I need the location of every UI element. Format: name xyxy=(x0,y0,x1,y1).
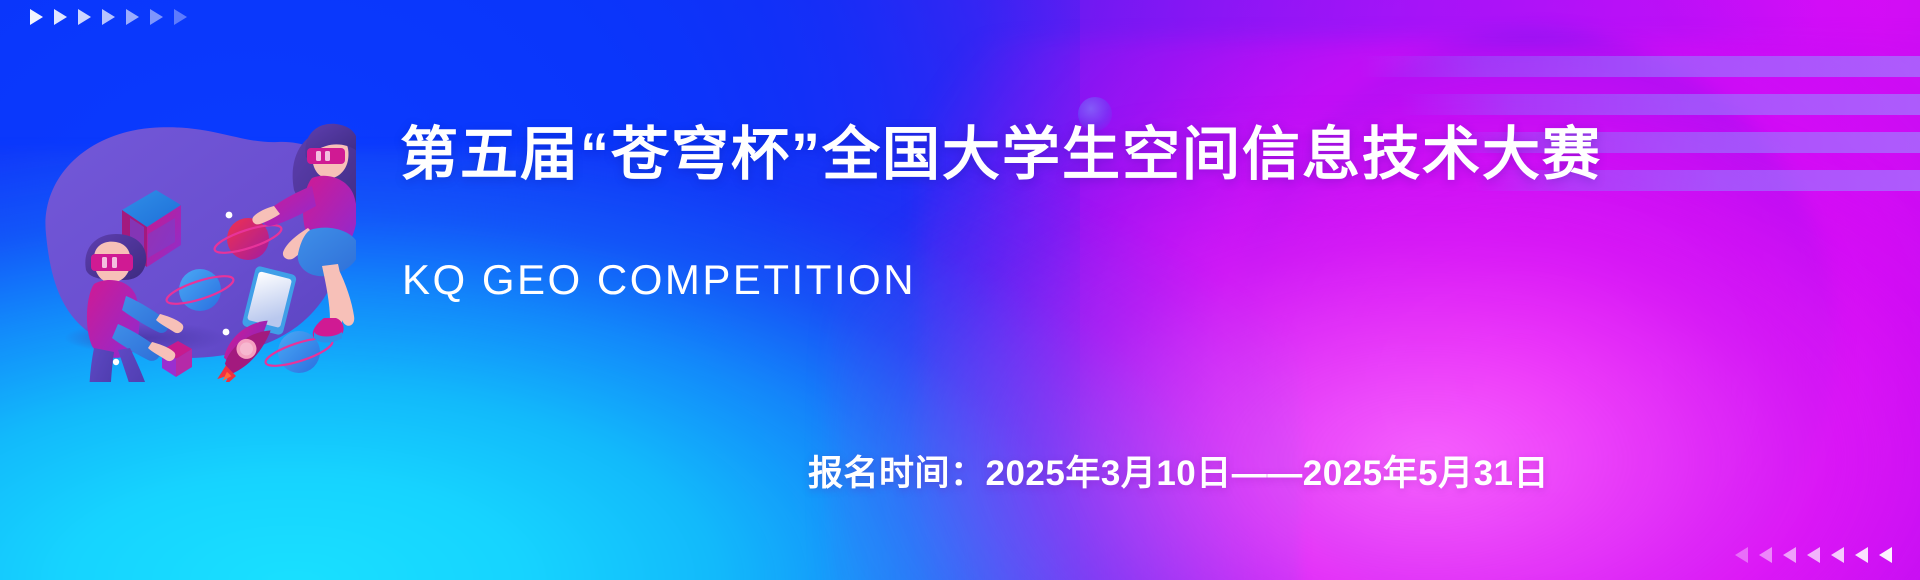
play-left-triangle-icon xyxy=(1879,547,1892,563)
play-right-triangle-icon xyxy=(150,9,163,25)
stripe-bar xyxy=(1400,94,1920,115)
play-left-triangle-icon xyxy=(1783,547,1796,563)
dark-orb-decoration xyxy=(1235,35,1835,580)
page-subtitle: KQ GEO COMPETITION xyxy=(402,259,916,301)
arrow-row-top-left xyxy=(30,9,187,25)
play-right-triangle-icon xyxy=(126,9,139,25)
play-right-triangle-icon xyxy=(54,9,67,25)
play-right-triangle-icon xyxy=(78,9,91,25)
stripe-bar xyxy=(1360,56,1920,77)
play-left-triangle-icon xyxy=(1759,547,1772,563)
play-left-triangle-icon xyxy=(1831,547,1844,563)
arrow-row-bottom-right xyxy=(1735,547,1892,563)
play-right-triangle-icon xyxy=(102,9,115,25)
play-left-triangle-icon xyxy=(1735,547,1748,563)
vr-students-space-illustration xyxy=(26,62,356,382)
play-right-triangle-icon xyxy=(174,9,187,25)
violet-glow xyxy=(980,0,1880,440)
pink-glow xyxy=(830,120,1920,580)
competition-banner: 第五届“苍穹杯”全国大学生空间信息技术大赛 KQ GEO COMPETITION… xyxy=(0,0,1920,580)
registration-period: 报名时间：2025年3月10日——2025年5月31日 xyxy=(808,456,1549,491)
magenta-glow xyxy=(920,40,1920,580)
page-title: 第五届“苍穹杯”全国大学生空间信息技术大赛 xyxy=(400,124,1602,187)
play-left-triangle-icon xyxy=(1855,547,1868,563)
play-left-triangle-icon xyxy=(1807,547,1820,563)
play-right-triangle-icon xyxy=(30,9,43,25)
